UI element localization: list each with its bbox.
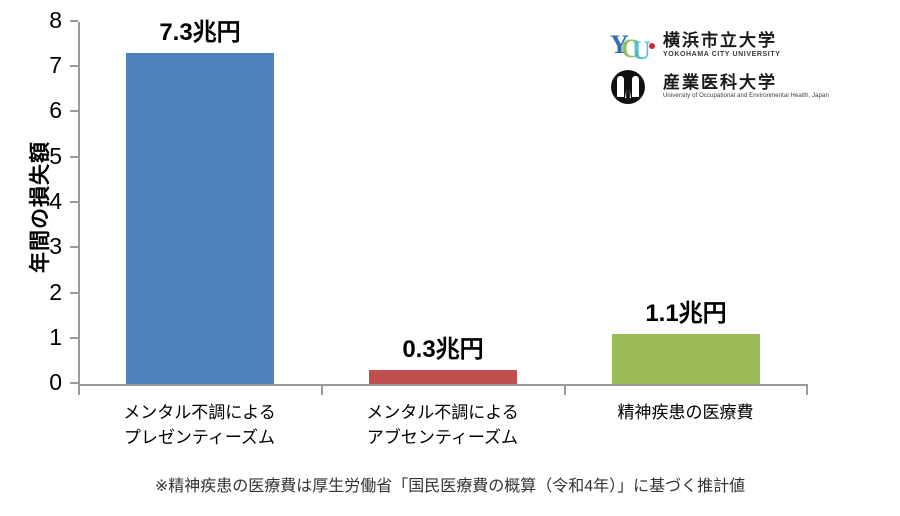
svg-text:U: U bbox=[632, 36, 651, 65]
bar-value-label-medical-cost: 1.1兆円 bbox=[645, 293, 726, 328]
y-tick-label-2: 2 bbox=[49, 279, 62, 305]
ycu-logo-text: 横浜市立大学 YOKOHAMA CITY UNIVERSITY bbox=[663, 31, 780, 59]
category-line-2: アブセンティーズム bbox=[321, 425, 564, 450]
y-tick-2: 2 bbox=[70, 292, 78, 294]
y-tick-6: 6 bbox=[70, 110, 78, 112]
x-category-label-medical-cost: 精神疾患の医療費 bbox=[564, 400, 807, 425]
y-tick-8: 8 bbox=[70, 20, 78, 22]
footnote-text: ※精神疾患の医療費は厚生労働省「国民医療費の概算（令和4年）」に基づく推計値 bbox=[0, 472, 900, 496]
x-tick-boundary-3 bbox=[806, 386, 808, 395]
y-tick-label-5: 5 bbox=[49, 143, 62, 169]
x-tick-boundary-1 bbox=[321, 386, 323, 395]
y-tick-3: 3 bbox=[70, 246, 78, 248]
y-tick-label-1: 1 bbox=[49, 324, 62, 350]
category-line-2: プレゼンティーズム bbox=[78, 425, 321, 450]
x-tick-boundary-2 bbox=[564, 386, 566, 395]
uoeh-logo-text: 産業医科大学 University of Occupational and En… bbox=[663, 73, 829, 101]
category-line-1: 精神疾患の医療費 bbox=[564, 400, 807, 425]
x-category-label-absenteeism: メンタル不調による アブセンティーズム bbox=[321, 400, 564, 450]
ycu-logo-icon: Y C U bbox=[608, 25, 656, 65]
category-line-1: メンタル不調による bbox=[78, 400, 321, 425]
logo-uoeh: 産業医科大学 University of Occupational and En… bbox=[608, 66, 858, 108]
y-tick-1: 1 bbox=[70, 337, 78, 339]
logo-group: Y C U 横浜市立大学 YOKOHAMA CITY UNIVERSITY bbox=[608, 24, 858, 108]
y-tick-label-7: 7 bbox=[49, 52, 62, 78]
bar-value-label-absenteeism: 0.3兆円 bbox=[402, 329, 483, 364]
y-tick-0: 0 bbox=[70, 382, 78, 384]
ycu-name-en: YOKOHAMA CITY UNIVERSITY bbox=[663, 50, 780, 59]
bar-chart-figure: 年間の損失額 0 1 2 3 4 5 6 7 8 bbox=[0, 0, 900, 516]
uoeh-name-en: University of Occupational and Environme… bbox=[663, 92, 829, 101]
ycu-name-jp: 横浜市立大学 bbox=[663, 31, 780, 50]
bar-value-label-presenteeism: 7.3兆円 bbox=[159, 12, 240, 47]
uoeh-logo-icon bbox=[608, 67, 656, 107]
y-axis-line bbox=[78, 22, 80, 386]
y-tick-label-0: 0 bbox=[49, 369, 62, 395]
y-tick-label-4: 4 bbox=[49, 188, 62, 214]
y-tick-label-8: 8 bbox=[49, 7, 62, 33]
x-axis-line bbox=[78, 384, 808, 386]
uoeh-name-jp: 産業医科大学 bbox=[663, 73, 829, 92]
x-tick-boundary-0 bbox=[78, 386, 80, 395]
x-category-label-presenteeism: メンタル不調による プレゼンティーズム bbox=[78, 400, 321, 450]
bar-absenteeism: 0.3兆円 bbox=[369, 370, 517, 384]
bar-medical-cost: 1.1兆円 bbox=[612, 334, 760, 384]
y-tick-5: 5 bbox=[70, 156, 78, 158]
y-tick-7: 7 bbox=[70, 65, 78, 67]
category-line-1: メンタル不調による bbox=[321, 400, 564, 425]
y-tick-label-6: 6 bbox=[49, 97, 62, 123]
y-tick-4: 4 bbox=[70, 201, 78, 203]
y-tick-label-3: 3 bbox=[49, 233, 62, 259]
logo-yokohama-city-university: Y C U 横浜市立大学 YOKOHAMA CITY UNIVERSITY bbox=[608, 24, 858, 66]
bar-presenteeism: 7.3兆円 bbox=[126, 53, 274, 384]
